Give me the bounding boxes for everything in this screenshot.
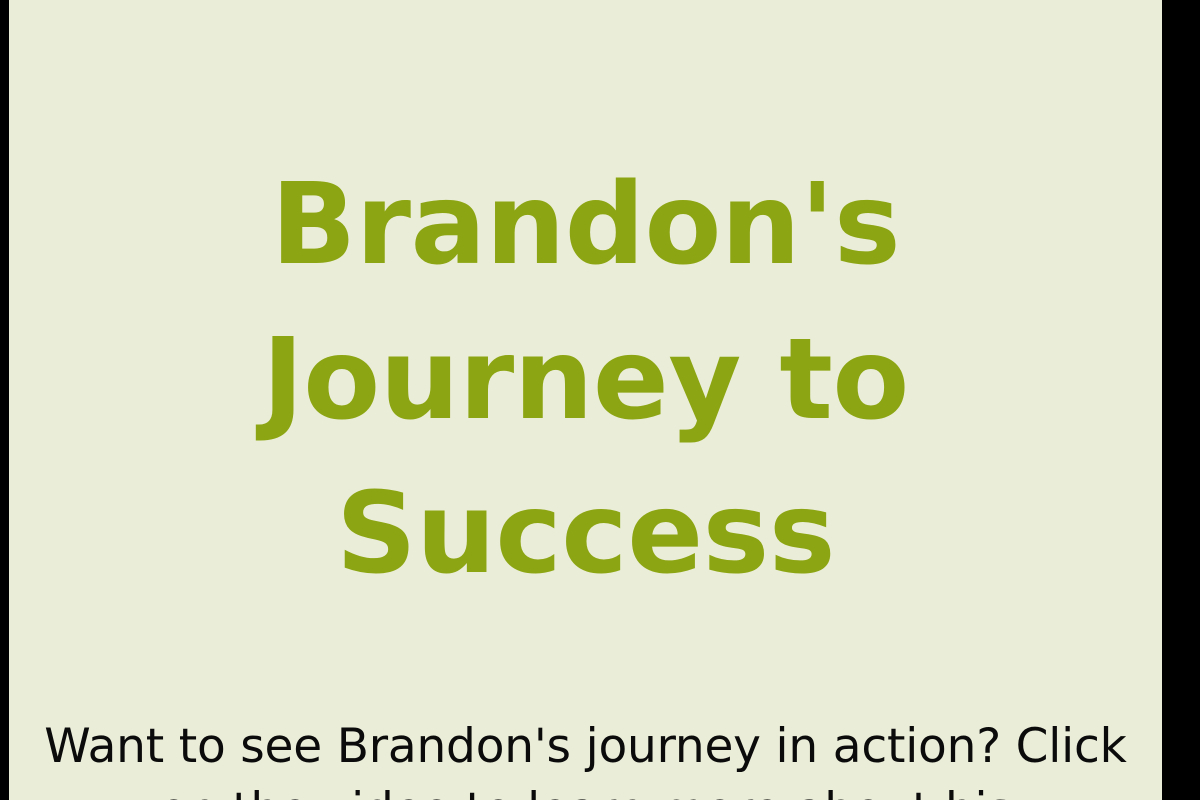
slide-canvas: Brandon's Journey to Success Want to see… — [9, 0, 1162, 800]
letterbox-bar-left — [0, 0, 9, 800]
slide-body-text: Want to see Brandon's journey in action?… — [43, 715, 1128, 800]
slide-title: Brandon's Journey to Success — [56, 148, 1116, 612]
slide-root: Brandon's Journey to Success Want to see… — [0, 0, 1200, 800]
letterbox-bar-right — [1162, 0, 1200, 800]
